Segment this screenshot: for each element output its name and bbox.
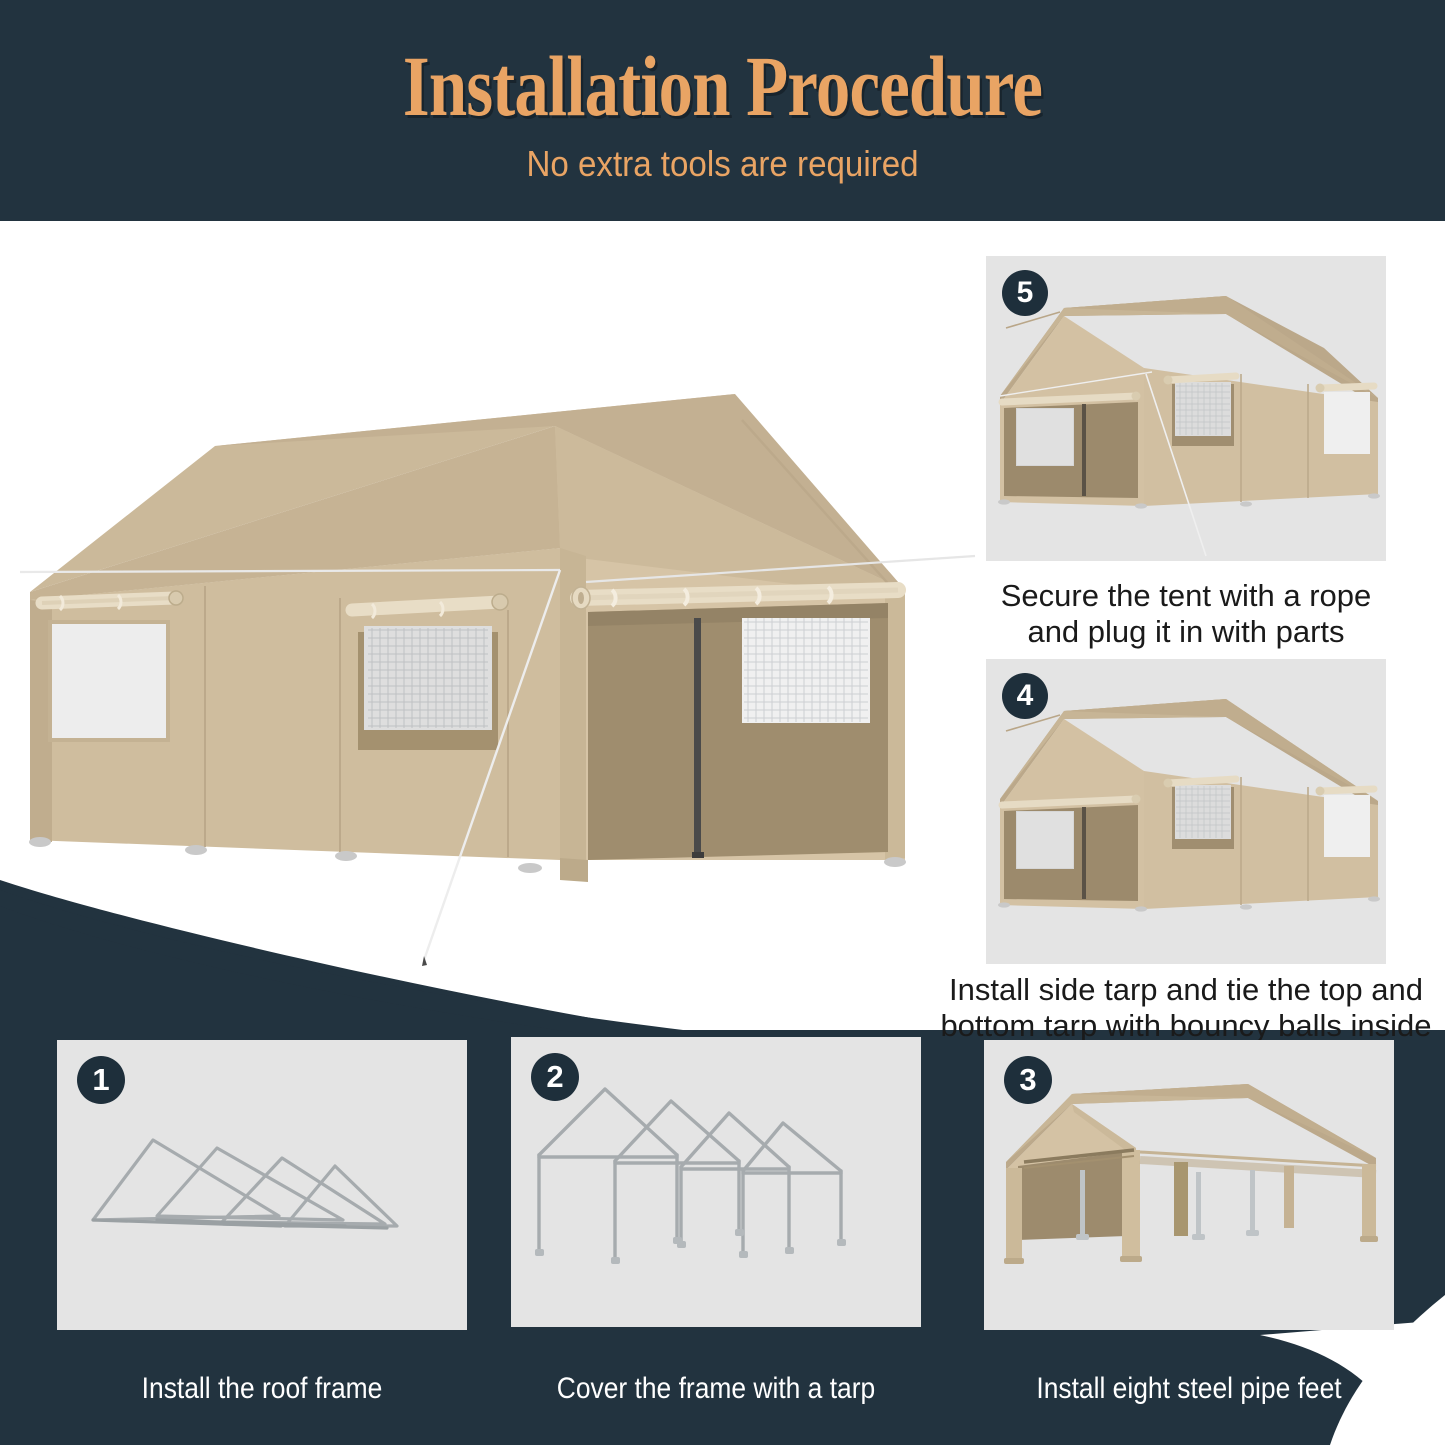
step-2-badge: 2 [531, 1053, 579, 1101]
step-1-caption: Install the roof frame [82, 1372, 443, 1406]
step-5-caption: Secure the tent with a rope and plug it … [966, 578, 1406, 650]
step-5-badge: 5 [1002, 270, 1048, 316]
step-4-caption: Install side tarp and tie the top and bo… [936, 972, 1436, 1044]
step-1-panel: 1 [57, 1040, 467, 1330]
page-subtitle: No extra tools are required [58, 143, 1387, 185]
step-5-caption-line2: and plug it in with parts [966, 614, 1406, 650]
step-4-caption-line2: bottom tarp with bouncy balls inside [936, 1008, 1436, 1044]
step-5-caption-line1: Secure the tent with a rope [966, 578, 1406, 614]
step-3-panel: 3 [984, 1040, 1394, 1330]
step-2-caption: Cover the frame with a tarp [536, 1372, 897, 1406]
step-1-badge: 1 [77, 1056, 125, 1104]
hero-tent-illustration [0, 360, 980, 1000]
step-3-caption: Install eight steel pipe feet [1009, 1372, 1370, 1406]
step-2-panel: 2 [511, 1037, 921, 1327]
step-3-badge: 3 [1004, 1056, 1052, 1104]
step-4-caption-line1: Install side tarp and tie the top and [936, 972, 1436, 1008]
page-title: Installation Procedure [145, 36, 1301, 136]
header-banner: Installation Procedure No extra tools ar… [0, 0, 1445, 221]
step-5-panel: 5 [986, 256, 1386, 561]
step-4-panel: 4 [986, 659, 1386, 964]
infographic-canvas: Installation Procedure No extra tools ar… [0, 0, 1445, 1445]
step-4-badge: 4 [1002, 673, 1048, 719]
